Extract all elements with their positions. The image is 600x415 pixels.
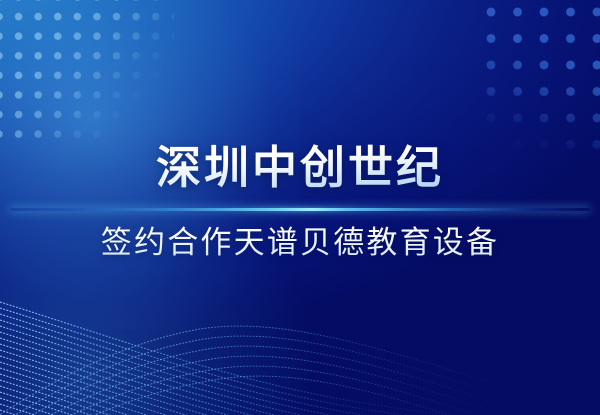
dot-grid-icon <box>485 6 600 166</box>
glow-divider <box>10 208 590 211</box>
promo-banner: 深圳中创世纪 签约合作天谱贝德教育设备 <box>0 0 600 415</box>
page-title: 深圳中创世纪 <box>0 143 600 193</box>
page-subtitle: 签约合作天谱贝德教育设备 <box>0 225 600 262</box>
dot-grid-icon <box>0 0 174 140</box>
